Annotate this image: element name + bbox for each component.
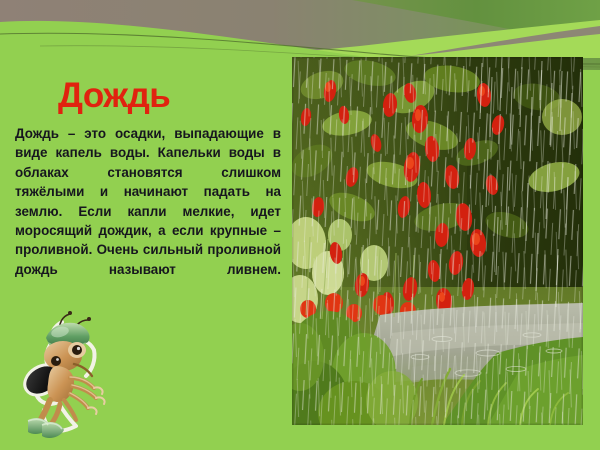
rain-photo [292,57,583,425]
page-title: Дождь [58,76,170,116]
slide-canvas: Дождь Дождь – это осадки, выпадающие в в… [0,0,600,450]
photo-rain-layer-2 [292,57,583,425]
mascot-eye-left [51,356,61,366]
mascot-body [47,366,74,402]
body-paragraph: Дождь – это осадки, выпадающие в виде ка… [15,124,281,299]
mosquito-character [16,308,108,440]
mascot-eye-right [72,345,82,355]
